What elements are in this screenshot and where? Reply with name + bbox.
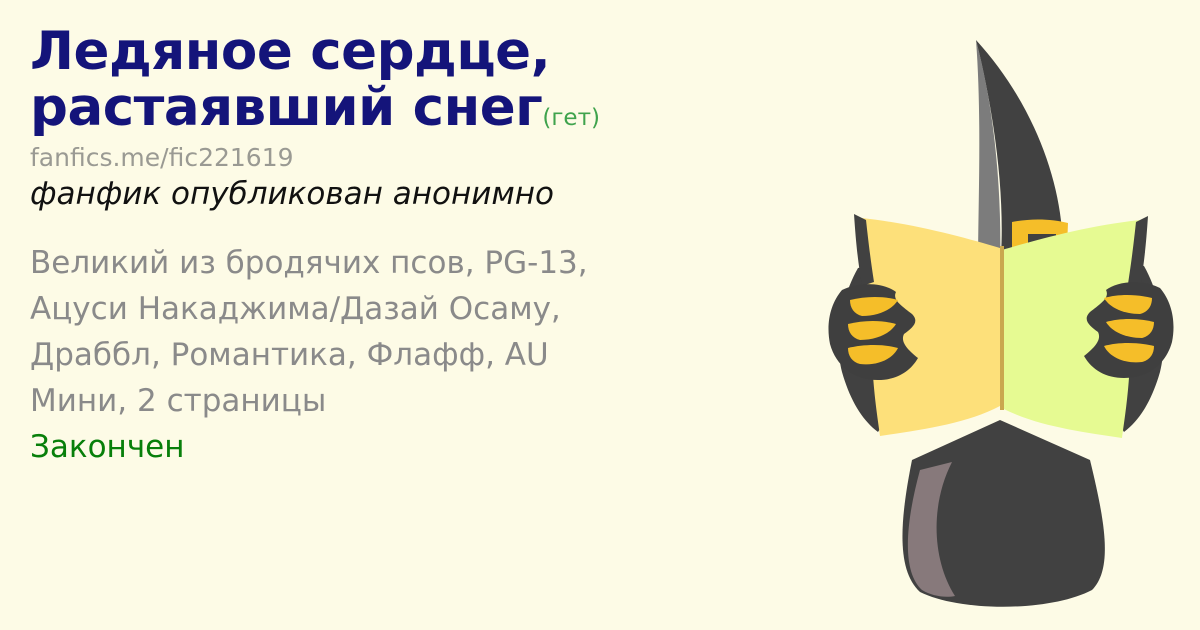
metadata-line: Драббл, Романтика, Флафф, AU (30, 333, 770, 379)
status-badge: Закончен (30, 425, 770, 471)
story-category-label: (гет) (542, 105, 600, 131)
book-spine-icon (1000, 246, 1004, 410)
title-block: Ледяное сердце, растаявший снег(гет) (30, 24, 790, 136)
metadata-line: Великий из бродячих псов, PG-13, (30, 241, 770, 287)
metadata-line: Ацуси Накаджима/Дазай Осаму, (30, 287, 770, 333)
witch-reading-book-illustration (800, 0, 1200, 630)
page-title: Ледяное сердце, растаявший снег (30, 21, 550, 138)
story-url[interactable]: fanfics.me/fic221619 (30, 144, 790, 173)
author-note: фанфик опубликован анонимно (30, 176, 790, 213)
story-metadata: Великий из бродячих псов, PG-13, Ацуси Н… (30, 241, 770, 470)
story-text-column: Ледяное сердце, растаявший снег(гет) fan… (30, 24, 790, 471)
fanfic-preview-card: Ледяное сердце, растаявший снег(гет) fan… (0, 0, 1200, 630)
metadata-line: Мини, 2 страницы (30, 379, 770, 425)
witch-robe-icon (902, 420, 1104, 607)
